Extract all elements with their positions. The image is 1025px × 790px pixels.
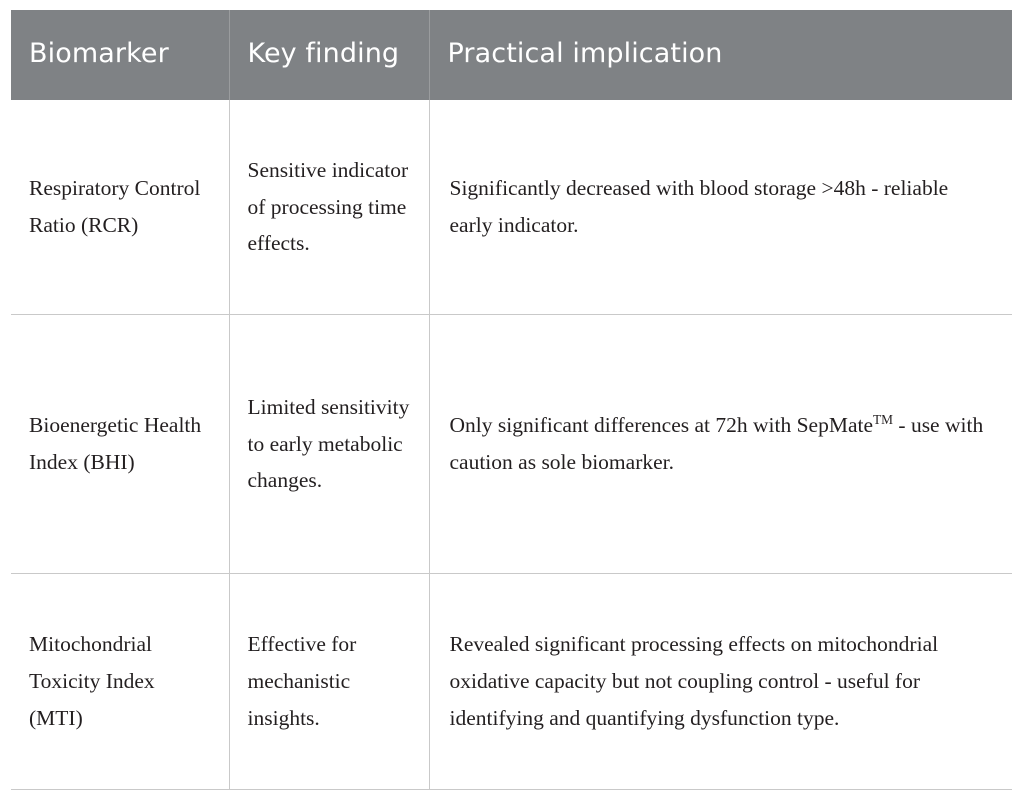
cell-biomarker: Bioenergetic Health Index (BHI) — [11, 315, 229, 574]
table-header: Biomarker Key finding Practical implicat… — [11, 10, 1012, 100]
table-row: Respiratory Control Ratio (RCR) Sensitiv… — [11, 100, 1012, 315]
trademark-superscript: TM — [873, 412, 893, 427]
cell-biomarker: Respiratory Control Ratio (RCR) — [11, 100, 229, 315]
cell-practical-implication: Only significant differences at 72h with… — [429, 315, 1012, 574]
biomarker-table-container: Biomarker Key finding Practical implicat… — [11, 10, 1012, 790]
cell-biomarker: Mitochondrial Toxicity Index (MTI) — [11, 574, 229, 790]
implication-text-part-1: Only significant differences at 72h with… — [450, 413, 874, 437]
column-header-biomarker: Biomarker — [11, 10, 229, 100]
cell-practical-implication: Revealed significant processing effects … — [429, 574, 1012, 790]
column-header-key-finding: Key finding — [229, 10, 429, 100]
cell-key-finding: Limited sensitivity to early metabolic c… — [229, 315, 429, 574]
table-row: Mitochondrial Toxicity Index (MTI) Effec… — [11, 574, 1012, 790]
cell-practical-implication: Significantly decreased with blood stora… — [429, 100, 1012, 315]
table-body: Respiratory Control Ratio (RCR) Sensitiv… — [11, 100, 1012, 790]
cell-key-finding: Sensitive indicator of processing time e… — [229, 100, 429, 315]
biomarker-comparison-table: Biomarker Key finding Practical implicat… — [11, 10, 1012, 790]
implication-text-part-1: Significantly decreased with blood stora… — [450, 176, 949, 237]
column-header-practical-implication: Practical implication — [429, 10, 1012, 100]
implication-text-part-1: Revealed significant processing effects … — [450, 632, 939, 730]
cell-key-finding: Effective for mechanistic insights. — [229, 574, 429, 790]
table-row: Bioenergetic Health Index (BHI) Limited … — [11, 315, 1012, 574]
page-root: Biomarker Key finding Practical implicat… — [0, 0, 1025, 740]
table-header-row: Biomarker Key finding Practical implicat… — [11, 10, 1012, 100]
